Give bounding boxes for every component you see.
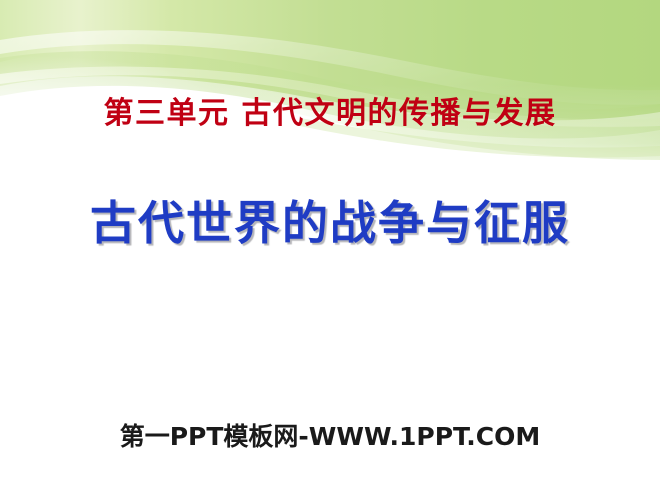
page-title: 古代世界的战争与征服 bbox=[0, 192, 660, 254]
green-wave-decoration bbox=[0, 0, 660, 180]
footer-credit: 第一PPT模板网-WWW.1PPT.COM bbox=[0, 420, 660, 454]
presentation-slide: 第三单元 古代文明的传播与发展 古代世界的战争与征服 第一PPT模板网-WWW.… bbox=[0, 0, 660, 495]
unit-heading: 第三单元 古代文明的传播与发展 bbox=[0, 94, 660, 134]
